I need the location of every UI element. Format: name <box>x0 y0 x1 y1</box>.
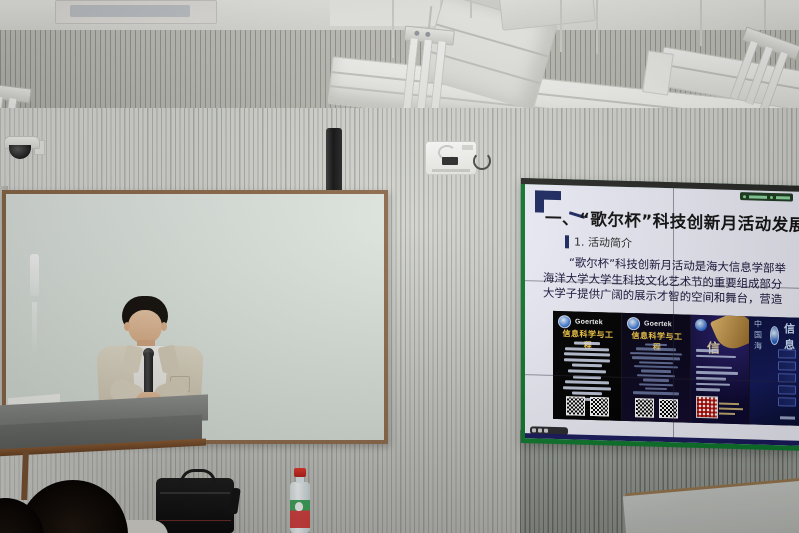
ceiling-vent-panel <box>55 0 217 24</box>
slide-subheading-group: 1. 活动简介 <box>565 233 632 251</box>
water-bottle <box>290 468 310 533</box>
slide-title: 一、“歌尔杯”科技创新月活动发展 <box>545 205 791 236</box>
lecture-hall-photo: 一、“歌尔杯”科技创新月活动发展 1. 活动简介 “歌尔杯”科技创新月活动是海大… <box>0 0 799 533</box>
poster-seal-caption <box>719 403 745 419</box>
led-panel-seam <box>673 188 674 442</box>
poster-right-table: 中国海 信息 <box>750 316 799 425</box>
presenter-ear <box>161 322 167 331</box>
device-cable <box>473 152 491 170</box>
poster-right-subtitle: 中国海 <box>754 319 765 352</box>
presenter-ear <box>124 322 130 331</box>
bottle-neck <box>296 476 304 483</box>
bottle-label <box>290 500 310 528</box>
subheading-bullet-bar <box>565 235 569 248</box>
camera-bag-red-stripe <box>159 520 231 522</box>
camera-bag-handle <box>180 469 216 486</box>
qr-code-icon <box>566 396 585 416</box>
slide-status-toolbar[interactable] <box>740 192 793 201</box>
poster-seal-icon <box>696 396 718 419</box>
screen-bottom-strip <box>525 433 799 446</box>
camera-bag-zipper <box>160 492 230 494</box>
projector-control-device <box>425 141 477 175</box>
ceiling-soffit-notch <box>330 0 440 26</box>
goertek-brand-name: Goertek <box>575 319 603 327</box>
university-emblem-icon <box>770 326 779 345</box>
goertek-brand-group: Goertek <box>558 315 603 329</box>
slide-poster-strip: Goertek 信息科学与工程 <box>553 311 799 426</box>
qr-code-icon <box>659 399 678 419</box>
poster-goertek-2: Goertek 信息科学与工程 <box>622 313 691 423</box>
poster-right-header: 中国海 信息 <box>754 319 795 353</box>
duct-hanger-cable <box>700 0 702 46</box>
poster-emblem-icon <box>695 319 707 331</box>
poster-blue-center: 信 <box>691 315 750 425</box>
poster-item-list <box>626 343 686 397</box>
qr-code-icon <box>590 397 609 417</box>
camera-bag <box>156 478 234 533</box>
goertek-logo-icon <box>627 317 640 330</box>
poster-qr-row <box>553 396 621 417</box>
duct-hanger-cable <box>560 0 562 52</box>
poster-goertek-1: Goertek 信息科学与工程 <box>553 311 622 421</box>
goertek-brand-name: Goertek <box>644 320 672 328</box>
presentation-screen[interactable]: 一、“歌尔杯”科技创新月活动发展 1. 活动简介 “歌尔杯”科技创新月活动是海大… <box>521 178 799 451</box>
duct-hanger-cable <box>596 0 598 54</box>
duct-hanger-cable <box>470 0 472 18</box>
goertek-logo-icon <box>558 315 571 328</box>
duct-hanger-cable <box>764 0 766 30</box>
poster-footer-text <box>780 416 795 419</box>
whiteboard-glare <box>30 254 39 296</box>
whiteboard-glare-secondary <box>32 302 37 354</box>
poster-qr-row <box>622 398 690 419</box>
goertek-brand-group: Goertek <box>627 317 672 331</box>
slide-content: 一、“歌尔杯”科技创新月活动发展 1. 活动简介 “歌尔杯”科技创新月活动是海大… <box>525 184 799 446</box>
slide-subheading: 1. 活动简介 <box>574 233 632 251</box>
poster-item-list <box>557 341 617 404</box>
presenter-face <box>128 310 162 344</box>
bottle-cap <box>294 468 306 477</box>
qr-code-icon <box>635 398 654 418</box>
dome-security-camera-icon <box>4 136 38 154</box>
duct-hanger-cable <box>392 0 394 58</box>
poster-text-column <box>696 349 740 395</box>
poster-right-title: 信息 <box>784 320 795 352</box>
poster-event-table <box>778 349 796 410</box>
